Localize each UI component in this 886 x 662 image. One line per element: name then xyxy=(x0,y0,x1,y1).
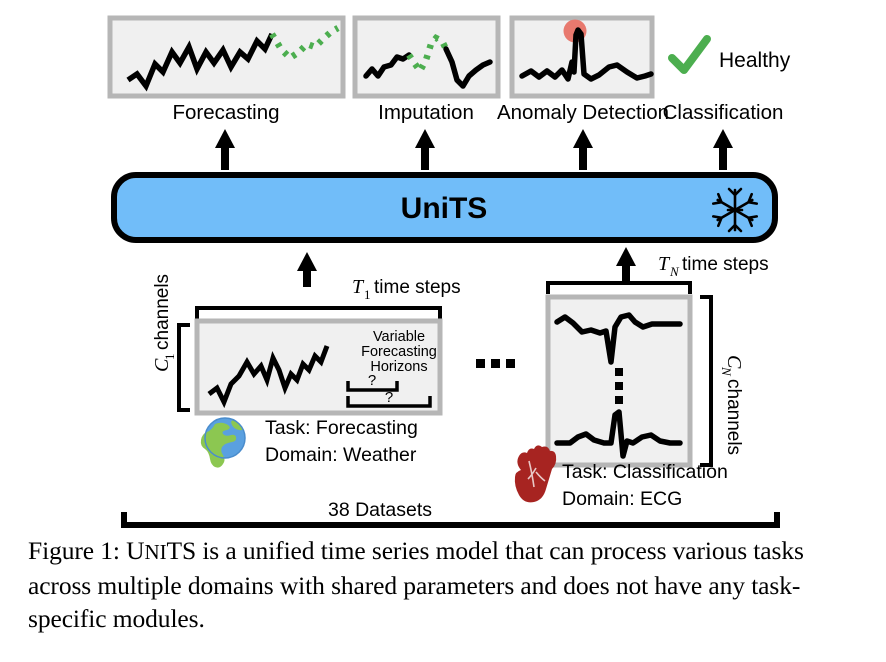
weather-channels-label-group: C 1 channels xyxy=(151,274,177,372)
task-label-anomaly-detection: Anomaly Detection xyxy=(497,101,669,124)
weather-domain-label: Domain: Weather xyxy=(265,444,417,466)
task-label-classification: Classification xyxy=(663,101,784,124)
task-label-imputation: Imputation xyxy=(378,101,474,124)
weather-timesteps-bracket xyxy=(197,308,440,319)
ecg-channel-ellipsis xyxy=(615,368,623,404)
horizon-note-line-2: Forecasting xyxy=(361,344,437,360)
caption-model-name-initial: U xyxy=(126,536,144,565)
caption-prefix: Figure 1: xyxy=(28,536,120,565)
ecg-channels-label: channels xyxy=(723,379,744,455)
units-model-name: UniTS xyxy=(401,192,488,225)
output-arrow-imputation xyxy=(415,129,435,170)
task-label-forecasting: Forecasting xyxy=(172,101,279,124)
horizon-question-long: ? xyxy=(385,389,393,406)
output-arrow-anomaly xyxy=(573,129,593,170)
output-arrow-classification xyxy=(713,129,733,170)
figure-caption: Figure 1: UNITS is a unified time series… xyxy=(28,534,862,635)
input-arrow-weather xyxy=(297,252,317,287)
input-block-ecg: T N time steps C N channels xyxy=(515,253,769,510)
units-model-box[interactable]: UniTS xyxy=(114,175,775,240)
ecg-timesteps-bracket xyxy=(548,283,690,294)
task-panel-forecasting xyxy=(110,18,343,96)
ecg-channels-subscript: N xyxy=(719,366,734,377)
ecg-timesteps-subscript: N xyxy=(669,264,680,279)
weather-channels-subscript: 1 xyxy=(162,354,177,361)
input-arrow-ecg xyxy=(616,247,636,282)
weather-timesteps-subscript: 1 xyxy=(364,287,371,302)
caption-model-name: UNITS xyxy=(126,536,202,565)
task-panel-classification xyxy=(672,39,707,70)
weather-channels-bracket xyxy=(179,325,190,410)
anatomical-heart-icon xyxy=(515,445,556,502)
ecg-domain-label: Domain: ECG xyxy=(562,488,682,510)
check-mark-icon xyxy=(672,39,707,70)
ecg-channels-bracket xyxy=(700,297,711,465)
input-block-weather: T 1 time steps C 1 channels Variable For… xyxy=(151,274,461,468)
weather-timesteps-label: time steps xyxy=(374,277,461,298)
task-panel-anomaly xyxy=(512,18,652,96)
ecg-channels-label-group: C N channels xyxy=(719,355,745,455)
datasets-count-label: 38 Datasets xyxy=(328,499,432,521)
inputs-ellipsis xyxy=(476,359,515,368)
caption-model-name-smallcaps: NI xyxy=(145,540,167,564)
healthy-output-label: Healthy xyxy=(719,49,791,72)
weather-task-label: Task: Forecasting xyxy=(265,417,418,439)
units-architecture-diagram: Healthy Forecasting Imputation Anomaly D… xyxy=(0,0,886,530)
figure-page: Healthy Forecasting Imputation Anomaly D… xyxy=(0,0,886,662)
globe-earth-icon xyxy=(201,418,245,468)
horizon-note-line-3: Horizons xyxy=(370,359,427,375)
datasets-span-bracket xyxy=(124,512,777,525)
weather-channels-label: channels xyxy=(152,274,173,350)
task-panel-imputation xyxy=(355,18,498,96)
horizon-note-line-1: Variable xyxy=(373,329,425,345)
caption-model-name-tail: TS xyxy=(166,536,196,565)
ecg-timesteps-label: time steps xyxy=(682,254,769,275)
output-arrows-group xyxy=(215,129,733,170)
horizon-question-short: ? xyxy=(368,372,376,389)
ecg-task-label: Task: Classification xyxy=(562,461,728,483)
output-arrow-forecasting xyxy=(215,129,235,170)
